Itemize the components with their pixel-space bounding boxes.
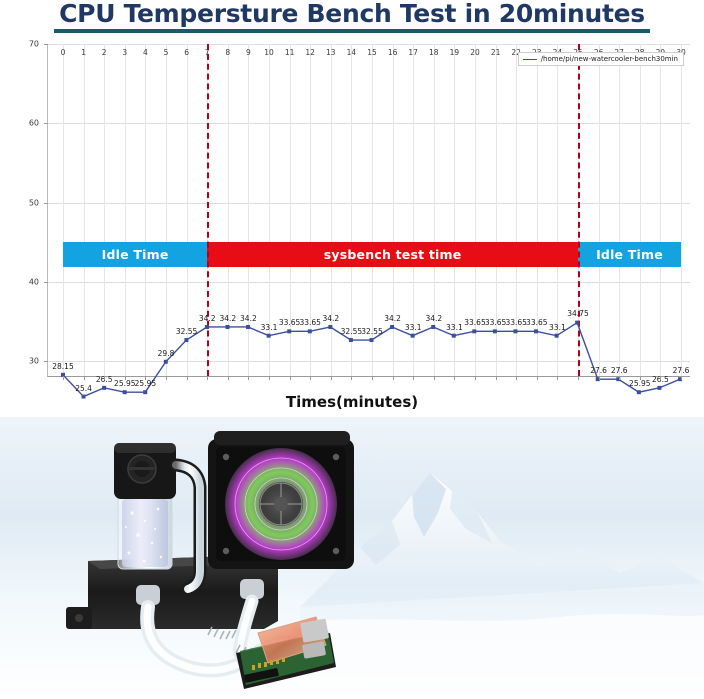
point-label-18: 34.2	[425, 314, 442, 323]
x-tick-mark-19	[454, 376, 455, 380]
x-tick-label-13: 13	[326, 48, 336, 57]
point-label-27: 27.6	[611, 366, 628, 375]
x-tick-mark-3	[125, 376, 126, 380]
y-tick-label-40: 40	[29, 277, 39, 286]
x-tick-label-4: 4	[143, 48, 148, 57]
x-tick-mark-16	[393, 376, 394, 380]
x-tick-label-15: 15	[367, 48, 377, 57]
point-label-1: 25.4	[75, 384, 92, 393]
point-label-28: 25.95	[629, 379, 650, 388]
x-tick-mark-20	[475, 376, 476, 380]
x-tick-label-21: 21	[491, 48, 501, 57]
point-label-16: 34.2	[384, 314, 401, 323]
x-tick-mark-17	[413, 376, 414, 380]
x-tick-mark-13	[331, 376, 332, 380]
data-point-14	[349, 338, 353, 342]
x-tick-mark-6	[187, 376, 188, 380]
x-tick-mark-7	[207, 376, 208, 380]
point-label-4: 25.95	[135, 379, 156, 388]
x-tick-mark-18	[434, 376, 435, 380]
y-tick-label-70: 70	[29, 40, 39, 49]
data-point-10	[267, 334, 271, 338]
title-underline	[54, 29, 650, 33]
point-label-3: 25.95	[114, 379, 135, 388]
data-point-6	[184, 338, 188, 342]
x-tick-mark-29	[660, 376, 661, 380]
x-tick-mark-9	[248, 376, 249, 380]
x-tick-label-7: 7	[205, 48, 210, 57]
screenshot-root: CPU Tempersture Bench Test in 20minutes …	[0, 0, 704, 699]
x-tick-mark-26	[599, 376, 600, 380]
point-label-10: 33.1	[261, 323, 278, 332]
data-point-21	[493, 329, 497, 333]
data-point-15	[369, 338, 373, 342]
x-tick-mark-22	[516, 376, 517, 380]
point-label-11: 33.65	[279, 318, 300, 327]
point-label-15: 32.55	[361, 327, 382, 336]
plot-region: Idle Timesysbench test timeIdle Time 28.…	[47, 44, 690, 377]
water-cooling-reservoir	[114, 443, 176, 569]
x-tick-label-2: 2	[102, 48, 107, 57]
x-tick-mark-10	[269, 376, 270, 380]
x-tick-mark-25	[578, 376, 579, 380]
point-label-25: 34.75	[567, 309, 588, 318]
x-tick-mark-11	[290, 376, 291, 380]
data-point-11	[287, 329, 291, 333]
data-point-23	[534, 329, 538, 333]
data-point-13	[328, 325, 332, 329]
data-point-2	[102, 386, 106, 390]
point-label-0: 28.15	[52, 362, 73, 371]
x-tick-mark-8	[228, 376, 229, 380]
x-tick-mark-30	[681, 376, 682, 380]
x-tick-mark-15	[372, 376, 373, 380]
y-tick-mark-40	[44, 282, 48, 283]
x-tick-label-17: 17	[408, 48, 418, 57]
point-label-9: 34.2	[240, 314, 257, 323]
x-tick-mark-0	[63, 376, 64, 380]
rgb-fan-radiator	[208, 431, 354, 569]
x-tick-mark-21	[496, 376, 497, 380]
y-tick-label-60: 60	[29, 119, 39, 128]
point-label-24: 33.1	[549, 323, 566, 332]
y-tick-label-30: 30	[29, 357, 39, 366]
x-tick-label-16: 16	[388, 48, 398, 57]
data-point-8	[226, 325, 230, 329]
legend-label: /home/pi/new-watercooler-bench30min	[541, 55, 678, 63]
data-point-22	[513, 329, 517, 333]
point-label-22: 33.65	[505, 318, 526, 327]
data-point-7	[205, 325, 209, 329]
x-tick-label-11: 11	[285, 48, 295, 57]
x-tick-mark-5	[166, 376, 167, 380]
point-label-21: 33.65	[485, 318, 506, 327]
x-tick-label-3: 3	[122, 48, 127, 57]
x-axis-title: Times(minutes)	[0, 393, 704, 411]
data-point-16	[390, 325, 394, 329]
data-point-24	[555, 334, 559, 338]
x-tick-label-0: 0	[61, 48, 66, 57]
x-tick-mark-28	[640, 376, 641, 380]
point-label-23: 33.65	[526, 318, 547, 327]
data-point-25	[575, 321, 579, 325]
chart-area: Idle Timesysbench test timeIdle Time 28.…	[0, 36, 704, 421]
point-label-19: 33.1	[446, 323, 463, 332]
data-point-12	[308, 329, 312, 333]
x-tick-mark-4	[145, 376, 146, 380]
x-tick-label-8: 8	[225, 48, 230, 57]
x-tick-label-6: 6	[184, 48, 189, 57]
x-tick-mark-14	[351, 376, 352, 380]
x-tick-mark-1	[84, 376, 85, 380]
x-tick-label-10: 10	[264, 48, 274, 57]
x-tick-label-20: 20	[470, 48, 480, 57]
x-tick-mark-2	[104, 376, 105, 380]
x-tick-mark-12	[310, 376, 311, 380]
photo-canvas	[0, 417, 704, 699]
point-label-6: 32.55	[176, 327, 197, 336]
x-tick-label-5: 5	[164, 48, 169, 57]
x-tick-mark-27	[619, 376, 620, 380]
point-label-7: 34.2	[199, 314, 216, 323]
data-point-18	[431, 325, 435, 329]
y-axis-title: Temperature of CPU	[0, 0, 1, 445]
point-label-26: 27.6	[590, 366, 607, 375]
x-tick-mark-24	[557, 376, 558, 380]
data-point-20	[472, 329, 476, 333]
page-title: CPU Tempersture Bench Test in 20minutes	[0, 0, 704, 28]
point-label-14: 32.55	[341, 327, 362, 336]
point-label-5: 29.8	[158, 349, 175, 358]
y-tick-mark-30	[44, 361, 48, 362]
point-label-30: 27.6	[673, 366, 690, 375]
y-tick-mark-70	[44, 44, 48, 45]
point-label-17: 33.1	[405, 323, 422, 332]
data-point-29	[657, 386, 661, 390]
y-tick-mark-60	[44, 123, 48, 124]
x-tick-label-9: 9	[246, 48, 251, 57]
x-tick-label-19: 19	[450, 48, 460, 57]
title-block: CPU Tempersture Bench Test in 20minutes	[0, 0, 704, 36]
x-tick-label-14: 14	[347, 48, 357, 57]
point-label-12: 33.65	[299, 318, 320, 327]
point-label-20: 33.65	[464, 318, 485, 327]
data-point-9	[246, 325, 250, 329]
chart-legend: /home/pi/new-watercooler-bench30min	[518, 52, 684, 66]
data-point-19	[452, 334, 456, 338]
y-tick-label-50: 50	[29, 198, 39, 207]
product-photo	[0, 417, 704, 699]
x-tick-label-12: 12	[305, 48, 315, 57]
y-tick-mark-50	[44, 203, 48, 204]
x-tick-label-18: 18	[429, 48, 439, 57]
point-label-8: 34.2	[219, 314, 236, 323]
data-point-5	[164, 360, 168, 364]
point-label-13: 34.2	[322, 314, 339, 323]
legend-line-swatch	[523, 59, 537, 60]
x-tick-label-1: 1	[81, 48, 86, 57]
x-tick-mark-23	[537, 376, 538, 380]
data-point-17	[411, 334, 415, 338]
